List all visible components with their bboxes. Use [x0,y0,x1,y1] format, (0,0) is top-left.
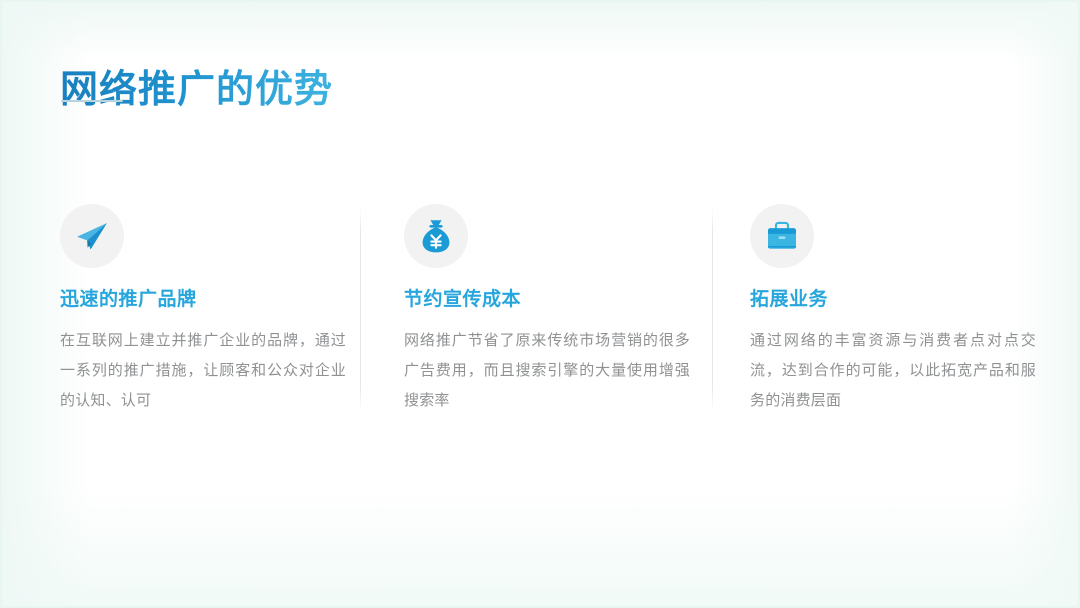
page-title: 网络推广的优势 [60,67,333,115]
advantage-heading: 迅速的推广品牌 [60,289,350,312]
column-divider [712,207,713,411]
advantage-body: 网络推广节省了原来传统市场营销的很多广告费用，而且搜索引擎的大量使用增强搜索率 [404,326,690,416]
money-bag-icon [404,204,468,268]
paper-plane-icon [60,204,124,268]
advantage-body: 在互联网上建立并推广企业的品牌，通过一系列的推广措施，让顾客和公众对企业的认知、… [60,326,346,416]
briefcase-icon [750,204,814,268]
column-divider [360,207,361,411]
advantage-heading: 拓展业务 [750,289,1040,312]
advantage-heading: 节约宣传成本 [404,289,694,312]
advantages-columns: 迅速的推广品牌 在互联网上建立并推广企业的品牌，通过一系列的推广措施，让顾客和公… [0,204,1080,414]
advantage-card[interactable]: 拓展业务 通过网络的丰富资源与消费者点对点交流，达到合作的可能，以此拓宽产品和服… [750,204,1040,416]
advantage-body: 通过网络的丰富资源与消费者点对点交流，达到合作的可能，以此拓宽产品和服务的消费层… [750,326,1036,416]
title-underline-rule [61,100,123,102]
advantage-card[interactable]: 节约宣传成本 网络推广节省了原来传统市场营销的很多广告费用，而且搜索引擎的大量使… [404,204,694,416]
background-tint-top [0,0,1080,60]
advantage-card[interactable]: 迅速的推广品牌 在互联网上建立并推广企业的品牌，通过一系列的推广措施，让顾客和公… [60,204,350,416]
background-tint-bottom [0,488,1080,608]
slide: 网络推广的优势 迅速的推广品牌 在互联网上建立并推广企业的品牌，通过一系列的推广… [0,0,1080,608]
